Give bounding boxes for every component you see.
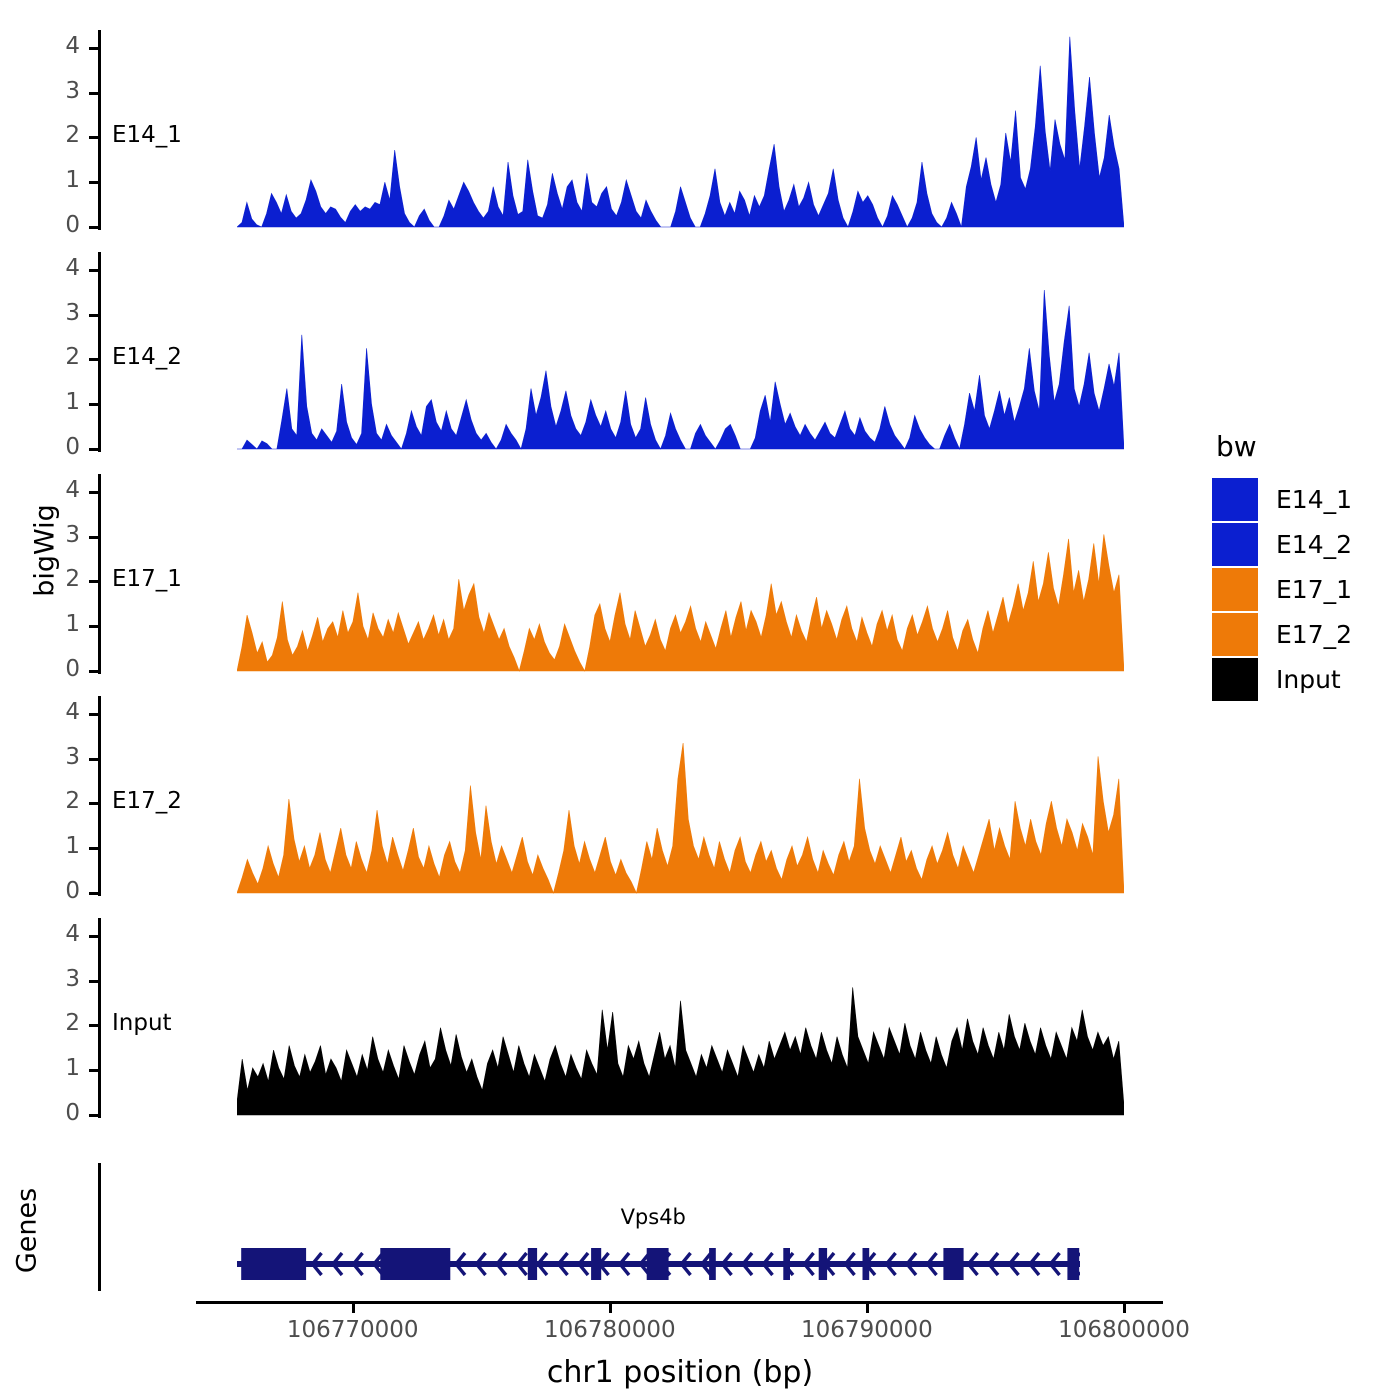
y-tick-label: 2: [40, 1010, 80, 1036]
y-tick-label: 3: [40, 300, 80, 326]
y-tick-label: 2: [40, 566, 80, 592]
y-tick: [89, 847, 98, 850]
y-tick-label: 1: [40, 611, 80, 637]
legend-label-e14_1: E14_1: [1276, 485, 1352, 514]
y-tick-label: 0: [40, 212, 80, 238]
x-axis-line: [196, 1301, 1163, 1304]
x-tick-label: 106800000: [1024, 1317, 1224, 1343]
y-tick-label: 2: [40, 788, 80, 814]
y-tick-label: 3: [40, 522, 80, 548]
legend-swatch-e14_1: [1212, 478, 1258, 521]
gene-model[interactable]: [237, 1246, 1080, 1282]
y-axis-line: [98, 30, 101, 230]
y-tick: [89, 1114, 98, 1117]
x-tick-label: 106790000: [767, 1317, 967, 1343]
legend-items: E14_1E14_2E17_1E17_2Input: [1212, 477, 1352, 702]
y-axis-line: [98, 696, 101, 896]
track-strip-label-e14_2: E14_2: [112, 344, 182, 370]
track-strip-label-e17_2: E17_2: [112, 788, 182, 814]
y-tick: [89, 403, 98, 406]
y-tick: [89, 314, 98, 317]
y-tick-label: 3: [40, 78, 80, 104]
y-tick: [89, 625, 98, 628]
legend-label-e14_2: E14_2: [1276, 530, 1352, 559]
y-tick: [89, 269, 98, 272]
x-tick-label: 106770000: [253, 1317, 453, 1343]
y-axis-title-genes: Genes: [12, 1156, 43, 1306]
y-tick-label: 0: [40, 878, 80, 904]
x-tick: [866, 1304, 869, 1313]
legend-label-input: Input: [1276, 665, 1341, 694]
x-axis-title: chr1 position (bp): [80, 1355, 1280, 1390]
y-tick: [89, 491, 98, 494]
y-axis-line: [98, 918, 101, 1118]
y-tick: [89, 758, 98, 761]
track-strip-label-e17_1: E17_1: [112, 566, 182, 592]
y-tick-label: 2: [40, 344, 80, 370]
y-tick-label: 4: [40, 255, 80, 281]
y-tick-label: 1: [40, 389, 80, 415]
bigwig-track-e14_1[interactable]: [237, 30, 1124, 231]
figure-canvas: bigWig Genes 01234E14_101234E14_201234E1…: [0, 0, 1400, 1400]
y-tick-label: 1: [40, 833, 80, 859]
y-tick: [89, 92, 98, 95]
legend-swatch-e17_1: [1212, 568, 1258, 611]
y-tick-label: 4: [40, 699, 80, 725]
y-tick: [89, 181, 98, 184]
x-tick-label: 106780000: [510, 1317, 710, 1343]
legend-item-input[interactable]: Input: [1212, 657, 1352, 702]
bigwig-track-e17_1[interactable]: [237, 474, 1124, 675]
y-tick: [89, 358, 98, 361]
legend-item-e14_2[interactable]: E14_2: [1212, 522, 1352, 567]
y-axis-line: [98, 474, 101, 674]
track-strip-label-e14_1: E14_1: [112, 122, 182, 148]
y-tick: [89, 580, 98, 583]
legend-label-e17_1: E17_1: [1276, 575, 1352, 604]
bigwig-track-e14_2[interactable]: [237, 252, 1124, 453]
y-tick: [89, 448, 98, 451]
gene-axis-line: [98, 1163, 101, 1291]
y-tick-label: 4: [40, 477, 80, 503]
legend-label-e17_2: E17_2: [1276, 620, 1352, 649]
y-tick-label: 1: [40, 167, 80, 193]
y-tick-label: 3: [40, 744, 80, 770]
legend-item-e14_1[interactable]: E14_1: [1212, 477, 1352, 522]
y-tick-label: 2: [40, 122, 80, 148]
y-tick-label: 0: [40, 1100, 80, 1126]
legend-swatch-e14_2: [1212, 523, 1258, 566]
y-tick-label: 4: [40, 33, 80, 59]
x-tick: [1123, 1304, 1126, 1313]
y-tick: [89, 892, 98, 895]
gene-label: Vps4b: [621, 1205, 686, 1229]
y-tick: [89, 670, 98, 673]
track-strip-label-input: Input: [112, 1010, 172, 1036]
y-tick: [89, 980, 98, 983]
y-tick-label: 3: [40, 966, 80, 992]
y-tick-label: 4: [40, 921, 80, 947]
y-tick-label: 0: [40, 434, 80, 460]
legend: bw E14_1E14_2E17_1E17_2Input: [1212, 430, 1352, 702]
legend-item-e17_1[interactable]: E17_1: [1212, 567, 1352, 612]
y-tick: [89, 226, 98, 229]
y-tick: [89, 802, 98, 805]
y-tick: [89, 47, 98, 50]
y-tick: [89, 1024, 98, 1027]
y-tick: [89, 536, 98, 539]
x-tick: [609, 1304, 612, 1313]
legend-item-e17_2[interactable]: E17_2: [1212, 612, 1352, 657]
y-tick: [89, 935, 98, 938]
bigwig-track-e17_2[interactable]: [237, 696, 1124, 897]
y-tick-label: 1: [40, 1055, 80, 1081]
legend-swatch-e17_2: [1212, 613, 1258, 656]
y-axis-line: [98, 252, 101, 452]
x-tick: [352, 1304, 355, 1313]
bigwig-track-input[interactable]: [237, 918, 1124, 1119]
legend-title: bw: [1216, 430, 1352, 463]
y-tick-label: 0: [40, 656, 80, 682]
y-tick: [89, 136, 98, 139]
y-tick: [89, 713, 98, 716]
legend-swatch-input: [1212, 658, 1258, 701]
y-tick: [89, 1069, 98, 1072]
